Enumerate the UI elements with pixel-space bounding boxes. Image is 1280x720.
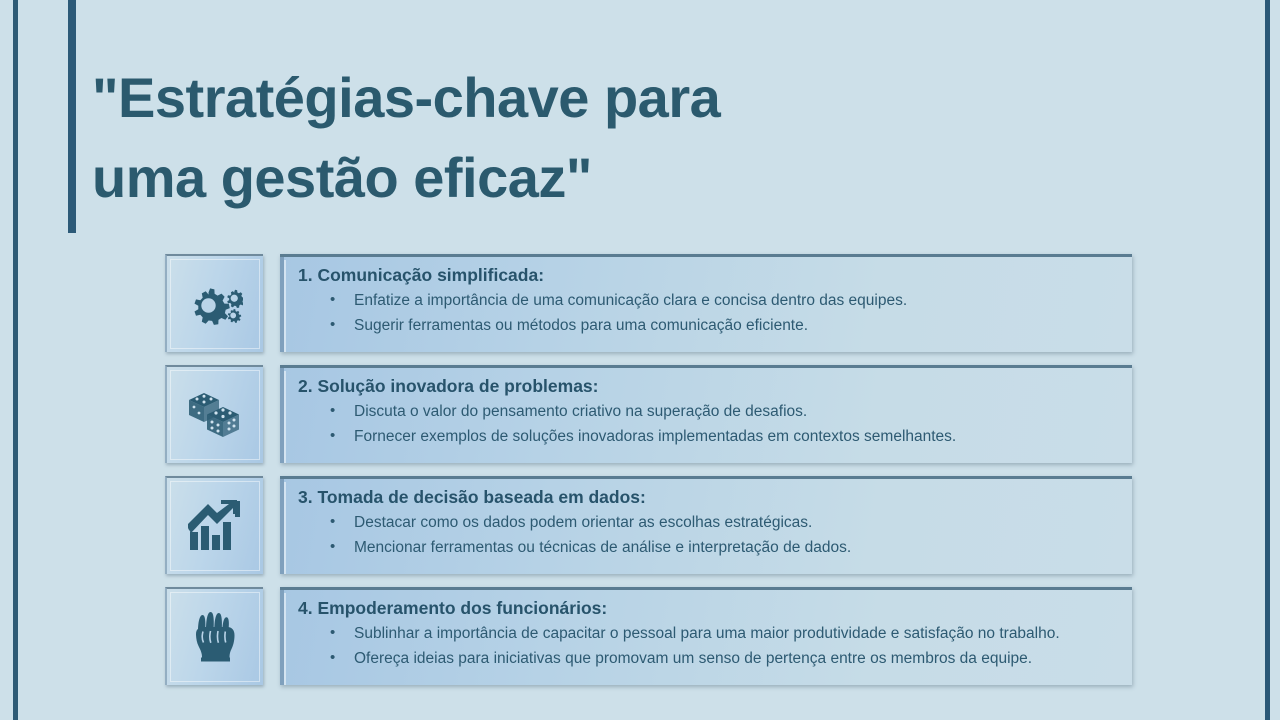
bullet-dot-icon: • (330, 399, 354, 424)
bullet-list: • Enfatize a importância de uma comunica… (292, 288, 1122, 338)
bar-chart-growth-icon (188, 500, 242, 552)
text-panel-communication: 1. Comunicação simplificada: • Enfatize … (280, 254, 1132, 352)
strategy-row: 2. Solução inovadora de problemas: • Dis… (165, 365, 1132, 463)
list-item: • Mencionar ferramentas ou técnicas de a… (292, 535, 1122, 560)
bullet-dot-icon: • (330, 424, 354, 449)
row-heading: 3. Tomada de decisão baseada em dados: (292, 486, 1122, 510)
list-item: • Sugerir ferramentas ou métodos para um… (292, 313, 1122, 338)
bullet-list: • Sublinhar a importância de capacitar o… (292, 621, 1122, 671)
gears-icon (187, 278, 243, 330)
dice-icon (187, 389, 243, 441)
bullet-list: • Discuta o valor do pensamento criativo… (292, 399, 1122, 449)
list-item: • Enfatize a importância de uma comunica… (292, 288, 1122, 313)
row-heading: 2. Solução inovadora de problemas: (292, 375, 1122, 399)
icon-tile-problem-solving (165, 365, 263, 463)
icon-tile-communication (165, 254, 263, 352)
slide-title: "Estratégias-chave para uma gestão efica… (92, 58, 812, 217)
icon-tile-empowerment (165, 587, 263, 685)
bullet-dot-icon: • (330, 288, 354, 313)
bullet-text: Sublinhar a importância de capacitar o p… (354, 621, 1122, 646)
bullet-text: Enfatize a importância de uma comunicaçã… (354, 288, 1122, 313)
icon-tile-data-driven (165, 476, 263, 574)
list-item: • Sublinhar a importância de capacitar o… (292, 621, 1122, 646)
bullet-text: Destacar como os dados podem orientar as… (354, 510, 1122, 535)
bullet-dot-icon: • (330, 313, 354, 338)
bullet-text: Sugerir ferramentas ou métodos para uma … (354, 313, 1122, 338)
bullet-dot-icon: • (330, 621, 354, 646)
bullet-text: Fornecer exemplos de soluções inovadoras… (354, 424, 1122, 449)
list-item: • Destacar como os dados podem orientar … (292, 510, 1122, 535)
bullet-text: Discuta o valor do pensamento criativo n… (354, 399, 1122, 424)
bullet-list: • Destacar como os dados podem orientar … (292, 510, 1122, 560)
text-panel-problem-solving: 2. Solução inovadora de problemas: • Dis… (280, 365, 1132, 463)
raised-fist-icon (189, 610, 241, 664)
strategy-rows-container: 1. Comunicação simplificada: • Enfatize … (165, 254, 1132, 698)
strategy-row: 4. Empoderamento dos funcionários: • Sub… (165, 587, 1132, 685)
bullet-text: Mencionar ferramentas ou técnicas de aná… (354, 535, 1122, 560)
text-panel-data-driven: 3. Tomada de decisão baseada em dados: •… (280, 476, 1132, 574)
right-frame-accent-line (1265, 0, 1270, 720)
list-item: • Discuta o valor do pensamento criativo… (292, 399, 1122, 424)
bullet-dot-icon: • (330, 646, 354, 671)
bullet-text: Ofereça ideias para iniciativas que prom… (354, 646, 1122, 671)
left-frame-accent-line (13, 0, 18, 720)
row-heading: 1. Comunicação simplificada: (292, 264, 1122, 288)
strategy-row: 3. Tomada de decisão baseada em dados: •… (165, 476, 1132, 574)
title-accent-bar (68, 0, 76, 233)
bullet-dot-icon: • (330, 535, 354, 560)
strategy-row: 1. Comunicação simplificada: • Enfatize … (165, 254, 1132, 352)
list-item: • Fornecer exemplos de soluções inovador… (292, 424, 1122, 449)
row-heading: 4. Empoderamento dos funcionários: (292, 597, 1122, 621)
list-item: • Ofereça ideias para iniciativas que pr… (292, 646, 1122, 671)
text-panel-empowerment: 4. Empoderamento dos funcionários: • Sub… (280, 587, 1132, 685)
bullet-dot-icon: • (330, 510, 354, 535)
